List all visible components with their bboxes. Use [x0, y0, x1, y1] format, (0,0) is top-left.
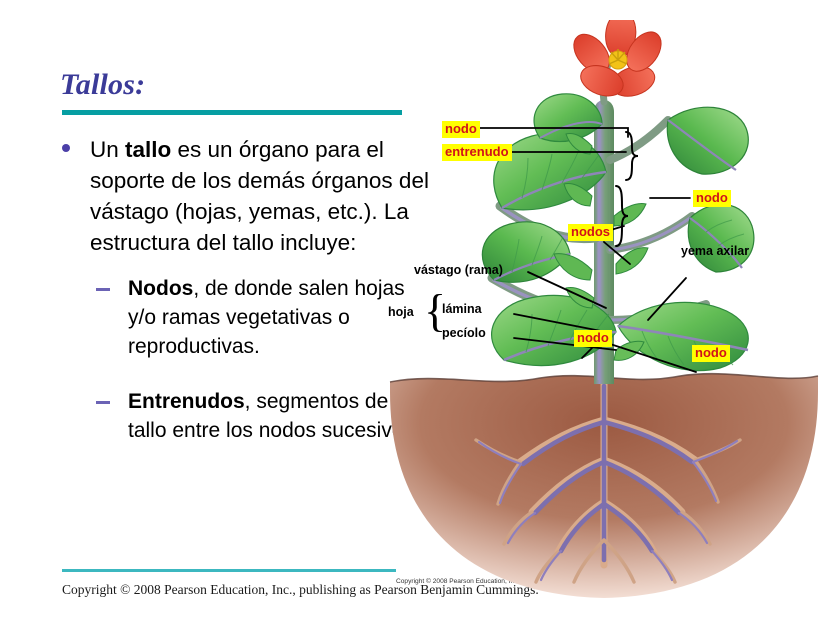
- dash-marker-icon: [96, 288, 110, 291]
- label-peciolo: pecíolo: [442, 327, 486, 340]
- bullet-dot-icon: [62, 144, 70, 152]
- bullet-bold-term: tallo: [125, 137, 171, 162]
- label-nodos: nodos: [568, 224, 613, 241]
- label-hoja: hoja: [388, 306, 414, 319]
- label-yema-axilar: yema axilar: [681, 245, 749, 258]
- list-item: Entrenudos, segmentos de tallo entre los…: [88, 387, 429, 445]
- title-divider-top: [62, 110, 402, 115]
- label-vastago: vástago (rama): [414, 264, 503, 277]
- footer-divider: [62, 569, 396, 572]
- label-nodo-bottom-left: nodo: [574, 330, 612, 347]
- leaves: [482, 94, 754, 371]
- bullet-lead: Un: [90, 137, 125, 162]
- label-nodo-right-upper: nodo: [693, 190, 731, 207]
- label-lamina: lámina: [442, 303, 482, 316]
- label-nodo-bottom-right: nodo: [692, 345, 730, 362]
- sub-item-bold-term: Entrenudos: [128, 390, 245, 413]
- plant-diagram: nodo entrenudo nodo nodos vástago (rama)…: [380, 20, 828, 600]
- bullet-main-text: Un tallo es un órgano para el soporte de…: [90, 137, 429, 255]
- label-nodo-top: nodo: [442, 121, 480, 138]
- page-title: Tallos:: [60, 68, 145, 102]
- leaf: [667, 107, 748, 174]
- flower: [567, 20, 668, 101]
- list-item: Nodos, de donde salen hojas y/o ramas ve…: [88, 274, 429, 361]
- sub-item-text: Nodos, de donde salen hojas y/o ramas ve…: [128, 277, 405, 358]
- label-entrenudo: entrenudo: [442, 144, 512, 161]
- leaf: [688, 204, 754, 272]
- sub-item-text: Entrenudos, segmentos de tallo entre los…: [128, 390, 420, 442]
- sub-bullet-list: Nodos, de donde salen hojas y/o ramas ve…: [54, 274, 429, 445]
- sub-item-bold-term: Nodos: [128, 277, 193, 300]
- dash-marker-icon: [96, 401, 110, 404]
- bullet-item-main: Un tallo es un órgano para el soporte de…: [54, 134, 429, 258]
- slide-canvas: Tallos: Un tallo es un órgano para el so…: [0, 0, 828, 640]
- body-content: Un tallo es un órgano para el soporte de…: [54, 134, 429, 471]
